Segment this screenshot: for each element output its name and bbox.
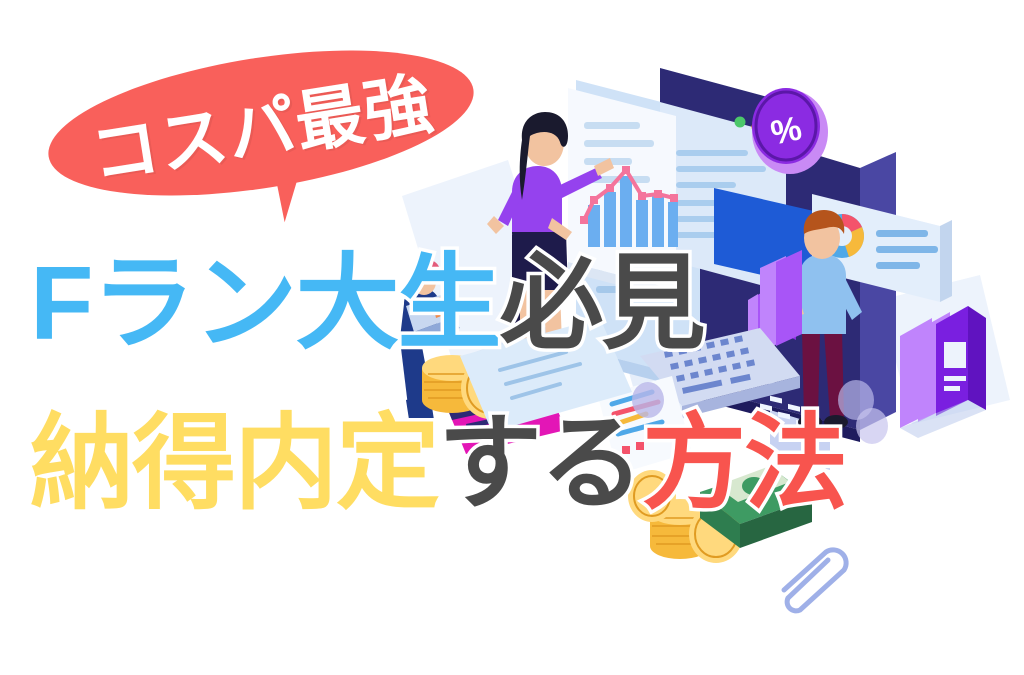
headline-line3-segment-2: する bbox=[438, 412, 642, 516]
headline-line2-segment-1: Fラン大生 bbox=[30, 252, 500, 356]
headline-line3-segment-1: 納得内定 bbox=[30, 412, 438, 516]
speech-bubble: コスパ最強 bbox=[46, 58, 476, 188]
headline-line3-segment-3: 方法 bbox=[642, 412, 846, 516]
headline-line-3: 納得内定する方法 bbox=[30, 412, 846, 516]
headline-line2-segment-2: 必見 bbox=[500, 252, 704, 356]
poster-canvas: % bbox=[0, 0, 1024, 675]
percent-badge: % bbox=[752, 88, 828, 174]
headline-line-2: Fラン大生必見 bbox=[30, 252, 704, 356]
paperclip bbox=[784, 550, 846, 611]
